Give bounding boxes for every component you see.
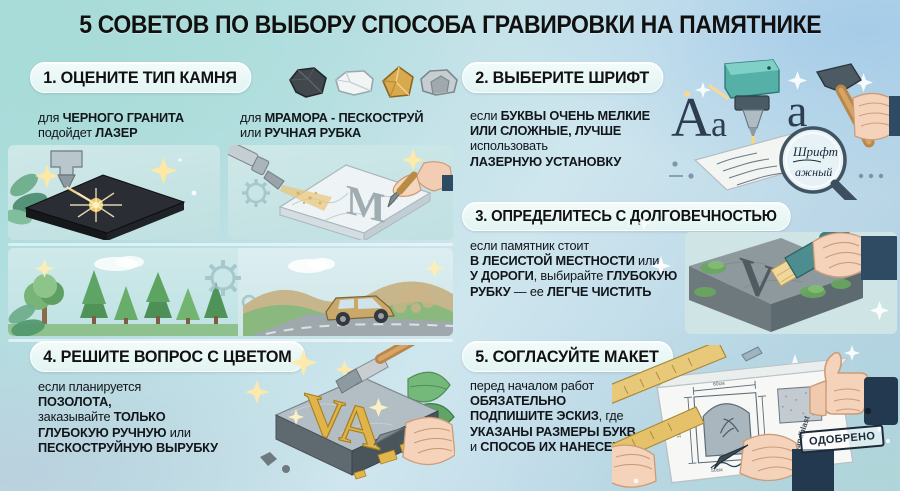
tip-1b-line2-light: или bbox=[240, 125, 264, 140]
section-3-heading-text: 3. ОПРЕДЕЛИТЕСЬ С ДОЛГОВЕЧНОСТЬЮ bbox=[462, 202, 791, 231]
infographic-poster: 5 СОВЕТОВ ПО ВЫБОРУ СПОСОБА ГРАВИРОВКИ Н… bbox=[0, 0, 900, 491]
tip-1a-line1-bold: ЧЕРНОГО ГРАНИТА bbox=[63, 110, 184, 125]
svg-text:60см: 60см bbox=[713, 381, 725, 388]
layout-approval-illustration: 60см 100см 50см Sandblast bbox=[612, 345, 900, 491]
section-1-heading-pill: 1. ОЦЕНИТЕ ТИП КАМНЯ bbox=[30, 62, 263, 93]
tip-4-line4-bold: ГЛУБОКУЮ РУЧНУЮ bbox=[38, 425, 166, 440]
section-4-text: если планируется ПОЗОЛОТА, заказывайте Т… bbox=[38, 379, 253, 455]
tip-5-line4-bold: УКАЗАНЫ РАЗМЕРЫ БУКВ bbox=[470, 424, 636, 439]
tip-4-line3-bold: ТОЛЬКО bbox=[114, 409, 166, 424]
tip-1a-line2-bold: ЛАЗЕР bbox=[95, 125, 137, 140]
font-choice-illustration: A a a bbox=[665, 58, 900, 200]
tip-4-line3-light: заказывайте bbox=[38, 409, 114, 424]
tip-2-line3-light: использовать bbox=[470, 138, 548, 153]
context-scenes-strip bbox=[8, 248, 453, 336]
tip-3-line4-bold2: ЛЕГЧЕ ЧИСТИТЬ bbox=[547, 284, 651, 299]
tip-3-line3-mid: , выбирайте bbox=[534, 268, 607, 283]
svg-text:M: M bbox=[346, 177, 386, 233]
tip-4-line4-tail: или bbox=[166, 425, 190, 440]
section-3-text: если памятник стоит В ЛЕСИСТОЙ МЕСТНОСТИ… bbox=[470, 238, 710, 299]
svg-text:V: V bbox=[739, 246, 775, 313]
glyph-A: A bbox=[671, 87, 712, 149]
tip-3-line2-tail: или bbox=[635, 253, 659, 268]
divider-left-1 bbox=[8, 243, 453, 246]
stone-type-icons bbox=[288, 60, 458, 102]
tip-3-line3-bold2: ГЛУБОКУЮ bbox=[607, 268, 678, 283]
section-1-heading-text: 1. ОЦЕНИТЕ ТИП КАМНЯ bbox=[30, 62, 251, 93]
amber-stone-icon bbox=[380, 65, 418, 99]
tip-1b-line1-bold: МРАМОРА - ПЕСКОСТРУЙ bbox=[265, 110, 424, 125]
tip-3-line3-bold: У ДОРОГИ bbox=[470, 268, 534, 283]
tip-3-line4-mid: — ее bbox=[511, 284, 547, 299]
marble-tip-text: для МРАМОРА - ПЕСКОСТРУЙ или РУЧНАЯ РУБК… bbox=[240, 110, 455, 140]
svg-text:50см: 50см bbox=[711, 467, 723, 474]
magnifier-script-text: Шрифт bbox=[792, 144, 838, 159]
black-granite-tip-text: для ЧЕРНОГО ГРАНИТА подойдет ЛАЗЕР bbox=[38, 110, 238, 140]
tip-4-line5-bold: ПЕСКОСТРУЙНУЮ ВЫРУБКУ bbox=[38, 440, 218, 455]
tip-4-line1: если планируется bbox=[38, 379, 141, 394]
tip-2-line1-bold: БУКВЫ ОЧЕНЬ МЕЛКИЕ bbox=[501, 108, 650, 123]
section-2-heading-pill: 2. ВЫБЕРИТЕ ШРИФТ bbox=[462, 62, 674, 93]
tip-2-line4-bold: ЛАЗЕРНУЮ УСТАНОВКУ bbox=[470, 154, 621, 169]
white-marble-stone-icon bbox=[334, 69, 376, 97]
tip-1a-line1-light: для bbox=[38, 110, 63, 125]
brush-cleaning-illustration: V bbox=[685, 232, 897, 334]
sandblast-hand-carving-illustration: M bbox=[228, 145, 453, 240]
tip-1a-line2-light: подойдет bbox=[38, 125, 95, 140]
page-title: 5 СОВЕТОВ ПО ВЫБОРУ СПОСОБА ГРАВИРОВКИ Н… bbox=[79, 11, 821, 40]
tip-3-line4-bold: РУБКУ bbox=[470, 284, 511, 299]
tip-2-line2-bold: ИЛИ СЛОЖНЫЕ, ЛУЧШЕ bbox=[470, 123, 621, 138]
tip-5-line1: перед началом работ bbox=[470, 378, 594, 393]
glyph-a-small: a bbox=[711, 104, 727, 144]
section-2-heading-text: 2. ВЫБЕРИТЕ ШРИФТ bbox=[462, 62, 663, 93]
tip-5-line3-bold: ПОДПИШИТЕ ЭСКИЗ bbox=[470, 408, 599, 423]
section-2-text: если БУКВЫ ОЧЕНЬ МЕЛКИЕ ИЛИ СЛОЖНЫЕ, ЛУЧ… bbox=[470, 108, 685, 169]
black-granite-stone-icon bbox=[288, 66, 330, 98]
tip-3-line2-bold: В ЛЕСИСТОЙ МЕСТНОСТИ bbox=[470, 253, 635, 268]
tip-3-line1: если памятник стоит bbox=[470, 238, 589, 253]
tip-4-line2-bold: ПОЗОЛОТА, bbox=[38, 394, 111, 409]
section-3-heading-pill: 3. ОПРЕДЕЛИТЕСЬ С ДОЛГОВЕЧНОСТЬЮ bbox=[462, 202, 808, 231]
tip-5-line5-light: и bbox=[470, 439, 480, 454]
tip-1b-line2-bold: РУЧНАЯ РУБКА bbox=[264, 125, 361, 140]
tip-1b-line1-light: для bbox=[240, 110, 265, 125]
gilding-illustration: VA bbox=[230, 345, 455, 487]
gray-stone-icon bbox=[419, 68, 459, 97]
laser-engraving-illustration bbox=[8, 145, 220, 240]
poster-title-band: 5 СОВЕТОВ ПО ВЫБОРУ СПОСОБА ГРАВИРОВКИ Н… bbox=[0, 0, 900, 50]
tip-2-line1-light: если bbox=[470, 108, 501, 123]
svg-text:ажный: ажный bbox=[795, 165, 832, 179]
divider-left-2 bbox=[8, 339, 453, 342]
tip-5-line2-bold: ОБЯЗАТЕЛЬНО bbox=[470, 393, 566, 408]
